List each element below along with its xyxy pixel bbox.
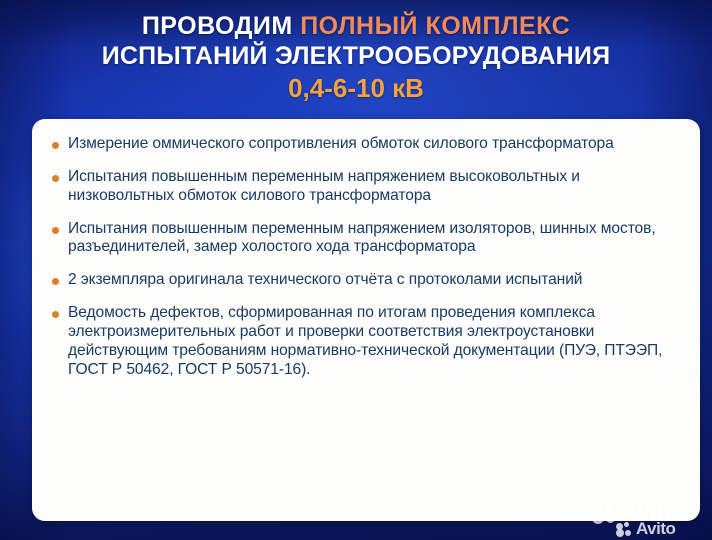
list-item-text: Испытания повышенным переменным напряжен… [68, 220, 656, 256]
headline-line-1: ПРОВОДИМ ПОЛНЫЙ КОМПЛЕКС [0, 12, 712, 42]
headline-line-2: ИСПЫТАНИЙ ЭЛЕКТРООБОРУДОВАНИЯ [0, 42, 712, 72]
avito-logo-icon [616, 522, 634, 537]
list-item: Измерение оммического сопротивления обмо… [46, 135, 682, 154]
bullet-dot-icon [52, 175, 59, 182]
list-item-text: Измерение оммического сопротивления обмо… [68, 135, 614, 152]
list-item-text: 2 экземпляра оригинала технического отчё… [68, 271, 582, 288]
avito-watermark-secondary-text: Avito [636, 519, 675, 539]
headline-block: ПРОВОДИМ ПОЛНЫЙ КОМПЛЕКС ИСПЫТАНИЙ ЭЛЕКТ… [0, 12, 712, 104]
list-item: Испытания повышенным переменным напряжен… [46, 220, 682, 258]
bullet-dot-icon [52, 142, 59, 149]
poster-root: ПРОВОДИМ ПОЛНЫЙ КОМПЛЕКС ИСПЫТАНИЙ ЭЛЕКТ… [0, 0, 712, 540]
headline-line-3-voltage: 0,4-6-10 кВ [0, 73, 712, 104]
avito-watermark-secondary: Avito [616, 519, 675, 539]
content-card: Измерение оммического сопротивления обмо… [32, 119, 700, 521]
bullet-dot-icon [52, 278, 59, 285]
bullet-dot-icon [52, 311, 59, 318]
list-item: Испытания повышенным переменным напряжен… [46, 168, 682, 206]
list-item: Ведомость дефектов, сформированная по ит… [46, 304, 682, 379]
list-item-text: Ведомость дефектов, сформированная по ит… [68, 304, 662, 378]
headline-line-1-accent: ПОЛНЫЙ КОМПЛЕКС [300, 12, 570, 40]
services-bullet-list: Измерение оммического сопротивления обмо… [46, 135, 682, 380]
list-item: 2 экземпляра оригинала технического отчё… [46, 271, 682, 290]
list-item-text: Испытания повышенным переменным напряжен… [68, 168, 580, 204]
bullet-dot-icon [52, 227, 59, 234]
headline-line-1-white: ПРОВОДИМ [142, 12, 293, 40]
